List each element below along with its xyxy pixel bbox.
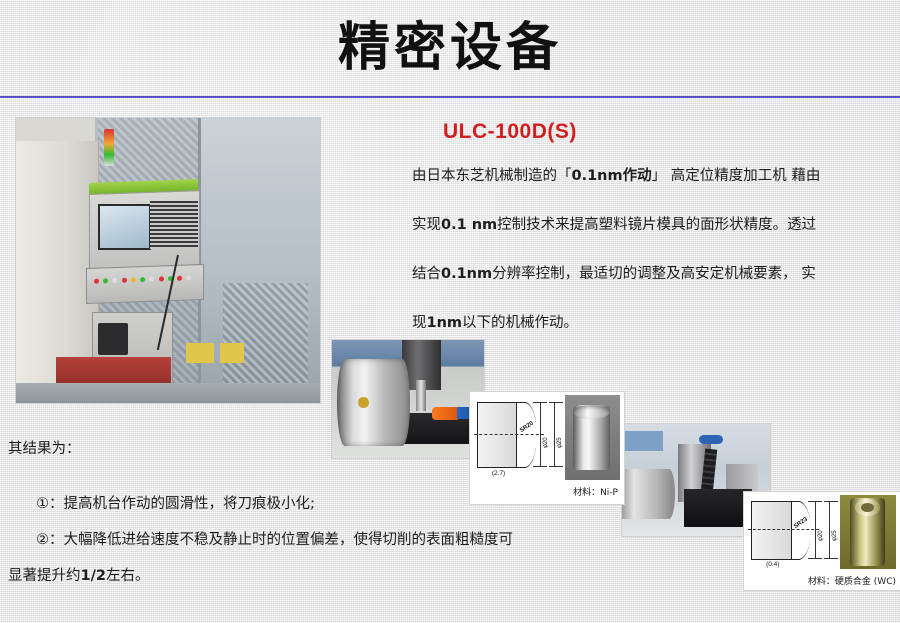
product-paragraph-4: 现1nm以下的机械作动。 bbox=[412, 313, 890, 334]
slide-canvas: 精密设备 bbox=[0, 0, 900, 623]
drawing-label-thickness-nip: (2.7) bbox=[492, 470, 505, 477]
drawing-label-dim-inner-nip: φ20 bbox=[543, 437, 549, 448]
drawing-caption-material-carbide: 材料：硬质合金 (WC) bbox=[744, 574, 900, 587]
drawing-label-dim-inner-carbide: φ20 bbox=[818, 531, 824, 542]
photo-spindle-chuck-closeup bbox=[332, 340, 484, 458]
product-model-title: ULC-100D(S) bbox=[443, 120, 577, 144]
drawing-photo-carbide-tool bbox=[840, 495, 896, 569]
drawing-card-mold-core-carbide: SR23 φ20 φ25 (0.4) 材料：硬质合金 (WC) bbox=[744, 492, 900, 590]
drawing-label-dim-outer-carbide: φ25 bbox=[832, 531, 838, 542]
photo-cnc-machine-full-view bbox=[16, 118, 320, 403]
drawing-caption-material-nip: 材料：Ni-P bbox=[470, 485, 624, 498]
drawing-card-mold-core-nip: SR20 φ20 φ25 (2.7) 材料：Ni-P bbox=[470, 392, 624, 504]
product-paragraph-2: 实现0.1 nm控制技术来提高塑料镜片模具的面形状精度。透过 bbox=[412, 215, 890, 236]
product-paragraph-1: 由日本东芝机械制造的「0.1nm作动」 高定位精度加工机 藉由 bbox=[412, 166, 890, 187]
drawing-figure-carbide: SR23 φ20 φ25 (0.4) bbox=[748, 495, 838, 569]
drawing-label-thickness-carbide: (0.4) bbox=[766, 561, 779, 568]
results-item-1: ①：提高机台作动的圆滑性，将刀痕极小化; bbox=[36, 492, 315, 513]
drawing-label-dim-outer-nip: φ25 bbox=[557, 437, 563, 448]
results-tail: 显著提升约1/2左右。 bbox=[8, 564, 149, 585]
drawing-figure-nip: SR20 φ20 φ25 (2.7) bbox=[474, 395, 563, 480]
results-heading: 其结果为： bbox=[8, 437, 81, 458]
page-title: 精密设备 bbox=[0, 15, 900, 81]
product-paragraph-3: 结合0.1nm分辨率控制，最适切的调整及高安定机械要素， 实 bbox=[412, 264, 890, 285]
results-item-2: ②：大幅降低进给速度不稳及静止时的位置偏差，使得切削的表面粗糙度可 bbox=[36, 528, 513, 549]
title-divider bbox=[0, 96, 900, 98]
drawing-photo-nip-cylinder bbox=[565, 395, 620, 480]
